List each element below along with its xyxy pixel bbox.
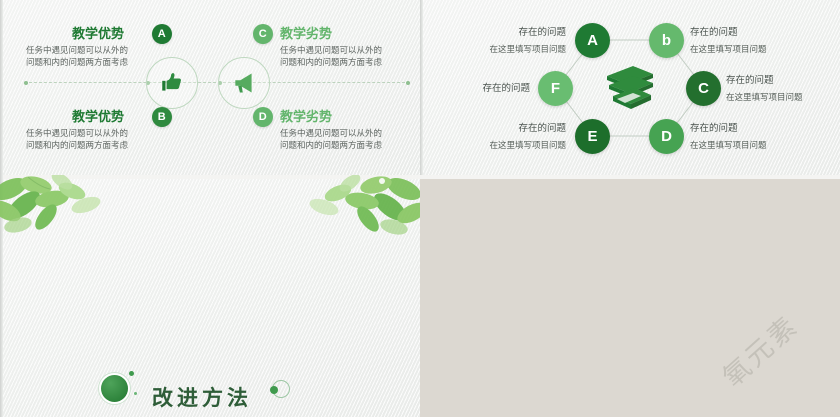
badge-D[interactable]: D [253,107,273,127]
hex-text-b-title: 存在的问题 [690,25,767,42]
slide-left-edge [0,0,3,175]
hex-node-A[interactable]: A [575,23,610,58]
hex-node-C[interactable]: C [686,71,721,106]
slide-left-edge [0,175,3,417]
title-ring-small [272,380,290,398]
title-dot-small-2 [134,392,137,395]
hex-text-D-title: 存在的问题 [690,121,767,138]
hex-text-A-title: 存在的问题 [461,25,566,42]
badge-D-label: D [259,111,267,123]
hex-node-E[interactable]: E [575,119,610,154]
page-title: 改进方法 [152,382,252,412]
hex-text-D-sub: 在这里填写项目问题 [690,140,767,150]
hex-text-F-title: 存在的问题 [448,81,530,98]
hex-text-E-title: 存在的问题 [461,121,566,138]
hex-text-C-sub: 在这里填写项目问题 [726,92,803,102]
body-B-line2: 问题和内的问题两方面考虑 [26,138,128,152]
slide-texture [0,175,420,417]
body-C-line2: 问题和内的问题两方面考虑 [280,55,382,69]
hex-text-b-sub: 在这里填写项目问题 [690,44,767,54]
hex-node-F[interactable]: F [538,71,573,106]
hex-text-C: 存在的问题 在这里填写项目问题 [726,73,803,105]
badge-B[interactable]: B [152,107,172,127]
title-dot-large [101,375,128,402]
title-dot-small-1 [129,371,134,376]
slide-teaching-advantages[interactable]: A 教学优势 任务中遇见问题可以从外的 问题和内的问题两方面考虑 B 教学优势 … [0,0,420,175]
megaphone-icon [231,70,257,96]
hex-text-b: 存在的问题 在这里填写项目问题 [690,25,767,57]
hex-text-A-sub: 在这里填写项目问题 [489,44,566,54]
heading-A: 教学优势 [72,23,124,42]
megaphone-icon-ring [218,57,270,109]
heading-B: 教学优势 [72,106,124,125]
badge-A[interactable]: A [152,24,172,44]
hex-node-E-label: E [587,128,597,145]
hex-node-D[interactable]: D [649,119,684,154]
badge-B-label: B [158,111,166,123]
body-D-line2: 问题和内的问题两方面考虑 [280,138,382,152]
thumbs-up-icon [159,70,185,96]
hex-text-F: 存在的问题 [448,81,530,98]
hex-node-A-label: A [587,32,598,49]
heading-C: 教学劣势 [280,23,332,42]
body-A-line2: 问题和内的问题两方面考虑 [26,55,128,69]
slide-grid: A 教学优势 任务中遇见问题可以从外的 问题和内的问题两方面考虑 B 教学优势 … [0,0,840,417]
badge-C[interactable]: C [253,24,273,44]
hex-text-E-sub: 在这里填写项目问题 [489,140,566,150]
slide-blank[interactable]: 氧元素 [420,175,840,417]
badge-C-label: C [259,28,267,40]
books-stack-icon [603,62,657,114]
badge-A-label: A [158,28,166,40]
hex-node-b[interactable]: b [649,23,684,58]
hex-node-C-label: C [698,80,709,97]
thumbs-up-icon-ring [146,57,198,109]
watermark: 氧元素 [713,305,806,394]
slide-top-rule [420,175,840,179]
hex-text-D: 存在的问题 在这里填写项目问题 [690,121,767,153]
heading-D: 教学劣势 [280,106,332,125]
hex-text-A: 存在的问题 在这里填写项目问题 [461,25,566,57]
green-leaves-decoration-left [0,175,144,237]
hex-node-F-label: F [551,80,560,97]
hex-text-C-title: 存在的问题 [726,73,803,90]
hex-node-D-label: D [661,128,672,145]
timeline-axis [24,82,410,83]
slide-improvement-methods[interactable]: 改进方法 方法之二 这里输入简单的文字概 述这里输入简单文字概述 这里简单输入简… [0,175,420,417]
hex-node-b-label: b [662,32,671,49]
green-leaves-decoration-right [264,175,420,239]
hex-text-E: 存在的问题 在这里填写项目问题 [461,121,566,153]
slide-top-rule [0,175,420,179]
slide-hexagon-problems[interactable]: A 存在的问题 在这里填写项目问题 b 存在的问题 在这里填写项目问题 C 存在… [420,0,840,175]
